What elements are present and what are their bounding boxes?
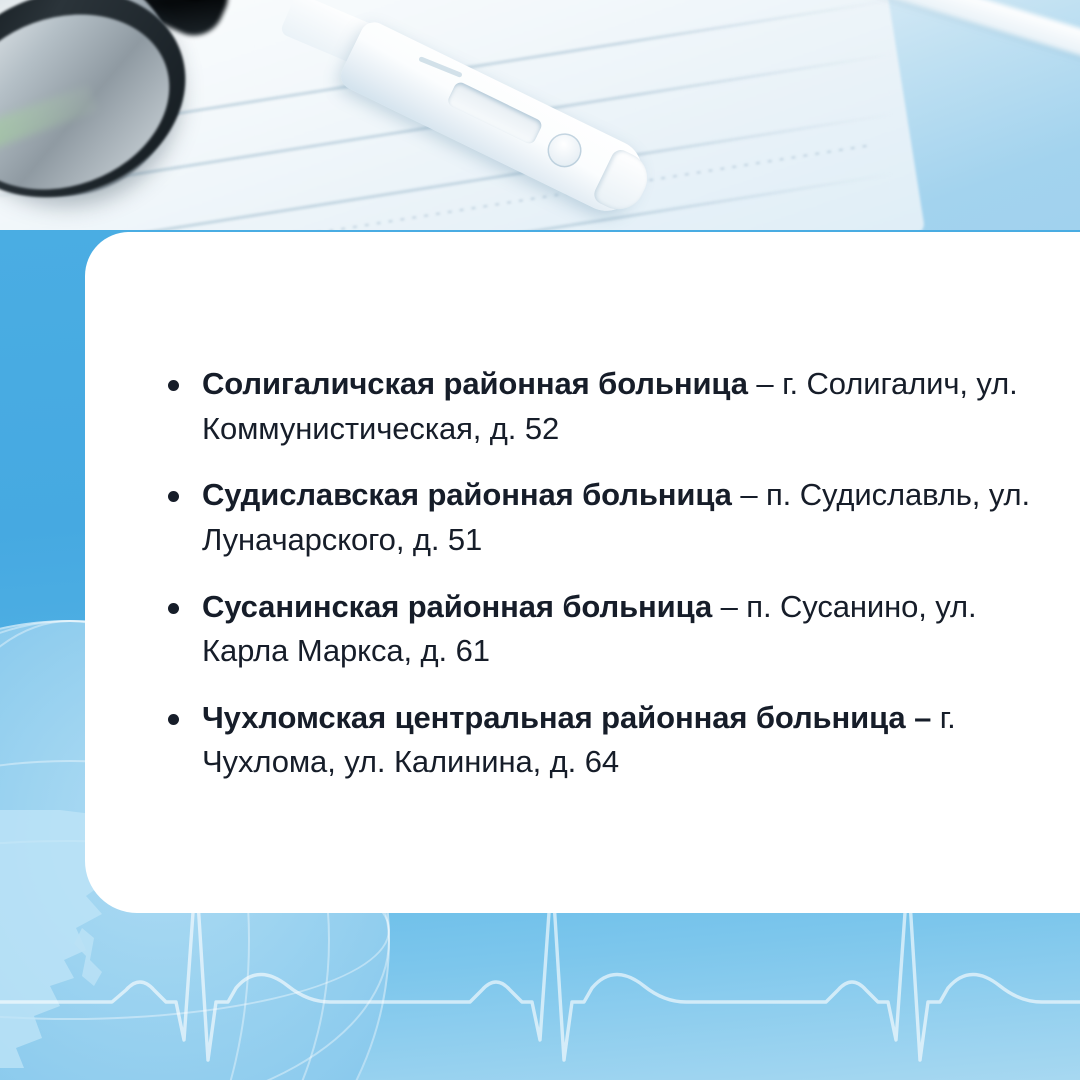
hospital-dash: –	[712, 589, 746, 624]
list-item: Сусанинская районная больница – п. Сусан…	[160, 585, 1040, 674]
hospital-name: Судиславская районная больница	[202, 477, 732, 512]
list-item: Чухломская центральная районная больница…	[160, 696, 1040, 785]
content-card: Солигаличская районная больница – г. Сол…	[85, 232, 1080, 913]
hospital-dash: –	[748, 366, 782, 401]
list-item: Солигаличская районная больница – г. Сол…	[160, 362, 1040, 451]
hospital-name: Солигаличская районная больница	[202, 366, 748, 401]
hospital-name: Сусанинская районная больница	[202, 589, 712, 624]
hospital-dash: –	[906, 700, 940, 735]
card-content: Солигаличская районная больница – г. Сол…	[160, 362, 1040, 785]
hospital-list: Солигаличская районная больница – г. Сол…	[160, 362, 1040, 785]
hospital-dash: –	[732, 477, 766, 512]
poster-canvas: Солигаличская районная больница – г. Сол…	[0, 0, 1080, 1080]
hospital-name: Чухломская центральная районная больница	[202, 700, 906, 735]
ecg-line-graphic	[0, 890, 1080, 1080]
list-item: Судиславская районная больница – п. Суди…	[160, 473, 1040, 562]
